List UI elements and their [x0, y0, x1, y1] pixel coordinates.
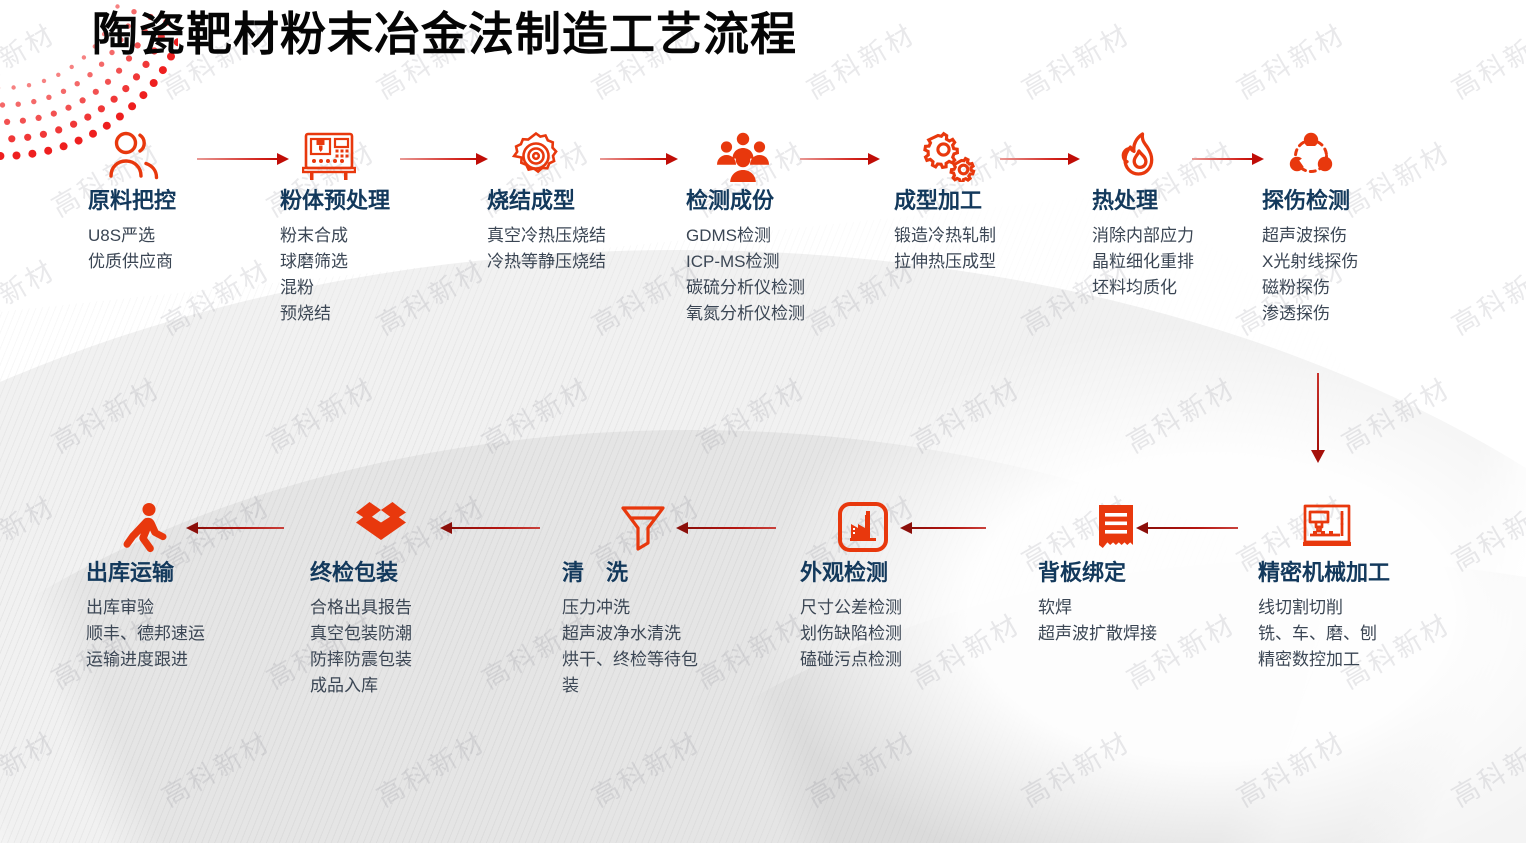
process-step-flaw-detection: 探伤检测超声波探伤X光射线探伤磁粉探伤渗透探伤 — [1262, 130, 1358, 327]
step-detail-list: 粉末合成球磨筛选混粉预烧结 — [280, 223, 390, 326]
step-detail-line: 磕碰污点检测 — [800, 647, 902, 673]
watermark-text: 高科新材 — [1013, 721, 1136, 815]
step-title: 热处理 — [1092, 188, 1194, 214]
step-title: 清洗 — [562, 560, 712, 586]
watermark-text: 高科新材 — [583, 721, 706, 815]
watermark-text: 高科新材 — [258, 367, 381, 461]
step-detail-list: 合格出具报告真空包装防潮防摔防震包装成品入库 — [310, 595, 412, 698]
watermark-text: 高科新材 — [903, 367, 1026, 461]
step-detail-line: 压力冲洗 — [562, 595, 712, 621]
step-detail-line: 烘干、终检等待包装 — [562, 647, 712, 699]
step-detail-list: 锻造冷热轧制拉伸热压成型 — [894, 223, 996, 275]
watermark-layer: 高科新材高科新材高科新材高科新材高科新材高科新材高科新材高科新材高科新材高科新材… — [0, 0, 1526, 843]
step-detail-line: 氧氮分析仪检测 — [686, 301, 805, 327]
step-title: 背板绑定 — [1038, 560, 1157, 586]
step-detail-line: 优质供应商 — [88, 249, 176, 275]
watermark-text: 高科新材 — [258, 839, 381, 843]
step-detail-line: 冷热等静压烧结 — [487, 249, 606, 275]
watermark-text: 高科新材 — [1228, 721, 1351, 815]
gears-icon — [920, 130, 996, 182]
flow-arrow-bottom-3 — [676, 521, 776, 535]
flow-arrow-bottom-2 — [440, 521, 540, 535]
watermark-text: 高科新材 — [798, 721, 921, 815]
watermark-text: 高科新材 — [0, 721, 62, 815]
gear-target-icon — [509, 130, 606, 182]
step-detail-line: 超声波净水清洗 — [562, 621, 712, 647]
flow-arrow-top-1 — [197, 152, 289, 166]
watermark-text: 高科新材 — [688, 367, 811, 461]
step-title: 终检包装 — [310, 560, 412, 586]
step-detail-line: 运输进度跟进 — [86, 647, 205, 673]
watermark-text: 高科新材 — [473, 367, 596, 461]
process-step-appearance-inspection: 外观检测尺寸公差检测划伤缺陷检测磕碰污点检测 — [800, 502, 902, 673]
step-detail-line: 真空冷热压烧结 — [487, 223, 606, 249]
watermark-text: 高科新材 — [1118, 839, 1241, 843]
watermark-text: 高科新材 — [903, 603, 1026, 697]
step-detail-line: ICP-MS检测 — [686, 249, 805, 275]
watermark-text: 高科新材 — [1228, 13, 1351, 107]
step-detail-line: 成品入库 — [310, 673, 412, 699]
watermark-text: 高科新材 — [43, 839, 166, 843]
step-detail-list: 线切割切削铣、车、磨、刨精密数控加工 — [1258, 595, 1390, 672]
step-detail-list: 压力冲洗超声波净水清洗烘干、终检等待包装 — [562, 595, 712, 698]
flow-arrow-top-3 — [600, 152, 678, 166]
step-title: 探伤检测 — [1262, 188, 1358, 214]
flow-arrow-bottom-4 — [900, 521, 986, 535]
step-detail-line: 软焊 — [1038, 595, 1157, 621]
step-detail-line: 预烧结 — [280, 301, 390, 327]
step-detail-line: 碳硫分析仪检测 — [686, 275, 805, 301]
step-title: 成型加工 — [894, 188, 996, 214]
step-title: 检测成份 — [686, 188, 805, 214]
step-detail-line: 锻造冷热轧制 — [894, 223, 996, 249]
step-detail-line: 坯料均质化 — [1092, 275, 1194, 301]
step-title: 外观检测 — [800, 560, 902, 586]
step-detail-list: 真空冷热压烧结冷热等静压烧结 — [487, 223, 606, 275]
people-group-icon — [714, 130, 805, 182]
step-detail-line: 划伤缺陷检测 — [800, 621, 902, 647]
watermark-text: 高科新材 — [0, 485, 62, 579]
step-detail-line: 合格出具报告 — [310, 595, 412, 621]
step-detail-line: 超声波扩散焊接 — [1038, 621, 1157, 647]
flow-arrow-bottom-5 — [1136, 521, 1238, 535]
step-detail-list: 出库审验顺丰、德邦速运运输进度跟进 — [86, 595, 205, 672]
watermark-text: 高科新材 — [688, 839, 811, 843]
watermark-text: 高科新材 — [153, 721, 276, 815]
watermark-text: 高科新材 — [1443, 721, 1526, 815]
step-detail-list: GDMS检测ICP-MS检测碳硫分析仪检测氧氮分析仪检测 — [686, 223, 805, 326]
process-step-composition-testing: 检测成份GDMS检测ICP-MS检测碳硫分析仪检测氧氮分析仪检测 — [686, 130, 805, 327]
step-detail-list: 软焊超声波扩散焊接 — [1038, 595, 1157, 647]
step-detail-list: 超声波探伤X光射线探伤磁粉探伤渗透探伤 — [1262, 223, 1358, 326]
watermark-text: 高科新材 — [473, 839, 596, 843]
step-detail-line: 渗透探伤 — [1262, 301, 1358, 327]
flow-arrow-top-6 — [1192, 152, 1264, 166]
process-step-powder-pretreatment: 粉体预处理粉末合成球磨筛选混粉预烧结 — [280, 130, 390, 327]
page-title: 陶瓷靶材粉末冶金法制造工艺流程 — [92, 6, 797, 64]
process-step-heat-treatment: 热处理消除内部应力晶粒细化重排坯料均质化 — [1092, 130, 1194, 301]
step-detail-line: 球磨筛选 — [280, 249, 390, 275]
step-detail-line: 铣、车、磨、刨 — [1258, 621, 1390, 647]
process-step-forming-processing: 成型加工锻造冷热轧制拉伸热压成型 — [894, 130, 996, 275]
flow-arrow-vertical-connector — [1311, 373, 1325, 463]
process-step-precision-machining: 精密机械加工线切割切削铣、车、磨、刨精密数控加工 — [1258, 502, 1390, 673]
factory-badge-icon — [838, 502, 902, 554]
step-detail-line: 真空包装防潮 — [310, 621, 412, 647]
flow-arrow-bottom-1 — [186, 521, 284, 535]
flow-arrow-top-2 — [400, 152, 488, 166]
watermark-text: 高科新材 — [1443, 13, 1526, 107]
step-detail-line: 拉伸热压成型 — [894, 249, 996, 275]
step-detail-line: 晶粒细化重排 — [1092, 249, 1194, 275]
step-detail-line: 出库审验 — [86, 595, 205, 621]
step-detail-line: U8S严选 — [88, 223, 176, 249]
step-detail-list: 尺寸公差检测划伤缺陷检测磕碰污点检测 — [800, 595, 902, 672]
process-step-sintering-forming: 烧结成型真空冷热压烧结冷热等静压烧结 — [487, 130, 606, 275]
three-dots-cycle-icon — [1284, 130, 1358, 182]
background-decoration — [0, 0, 1526, 843]
two-people-icon — [106, 130, 176, 182]
process-step-raw-material-control: 原料把控U8S严选优质供应商 — [88, 130, 176, 275]
step-title: 烧结成型 — [487, 188, 606, 214]
watermark-text: 高科新材 — [1333, 367, 1456, 461]
step-detail-line: 超声波探伤 — [1262, 223, 1358, 249]
watermark-text: 高科新材 — [1118, 367, 1241, 461]
open-box-icon — [352, 502, 412, 554]
step-detail-list: 消除内部应力晶粒细化重排坯料均质化 — [1092, 223, 1194, 300]
flow-arrow-top-5 — [1000, 152, 1080, 166]
step-title: 粉体预处理 — [280, 188, 390, 214]
machine-icon — [302, 130, 390, 182]
step-title: 原料把控 — [88, 188, 176, 214]
step-detail-line: 尺寸公差检测 — [800, 595, 902, 621]
cnc-machine-icon — [1300, 502, 1390, 554]
watermark-text: 高科新材 — [0, 13, 62, 107]
watermark-text: 高科新材 — [798, 13, 921, 107]
step-detail-line: 消除内部应力 — [1092, 223, 1194, 249]
watermark-text: 高科新材 — [1333, 839, 1456, 843]
watermark-text: 高科新材 — [0, 249, 62, 343]
step-detail-line: 防摔防震包装 — [310, 647, 412, 673]
watermark-text: 高科新材 — [1443, 249, 1526, 343]
flow-arrow-top-4 — [800, 152, 880, 166]
step-detail-line: 磁粉探伤 — [1262, 275, 1358, 301]
step-detail-line: X光射线探伤 — [1262, 249, 1358, 275]
step-title: 精密机械加工 — [1258, 560, 1390, 586]
watermark-text: 高科新材 — [368, 721, 491, 815]
watermark-text: 高科新材 — [1443, 485, 1526, 579]
watermark-text: 高科新材 — [43, 367, 166, 461]
step-detail-line: GDMS检测 — [686, 223, 805, 249]
step-title: 出库运输 — [86, 560, 205, 586]
step-detail-list: U8S严选优质供应商 — [88, 223, 176, 275]
watermark-text: 高科新材 — [903, 839, 1026, 843]
step-detail-line: 混粉 — [280, 275, 390, 301]
process-step-final-inspection-packaging: 终检包装合格出具报告真空包装防潮防摔防震包装成品入库 — [310, 502, 412, 699]
flame-icon — [1114, 130, 1194, 182]
step-detail-line: 线切割切削 — [1258, 595, 1390, 621]
watermark-text: 高科新材 — [1013, 13, 1136, 107]
step-detail-line: 精密数控加工 — [1258, 647, 1390, 673]
step-detail-line: 顺丰、德邦速运 — [86, 621, 205, 647]
step-detail-line: 粉末合成 — [280, 223, 390, 249]
